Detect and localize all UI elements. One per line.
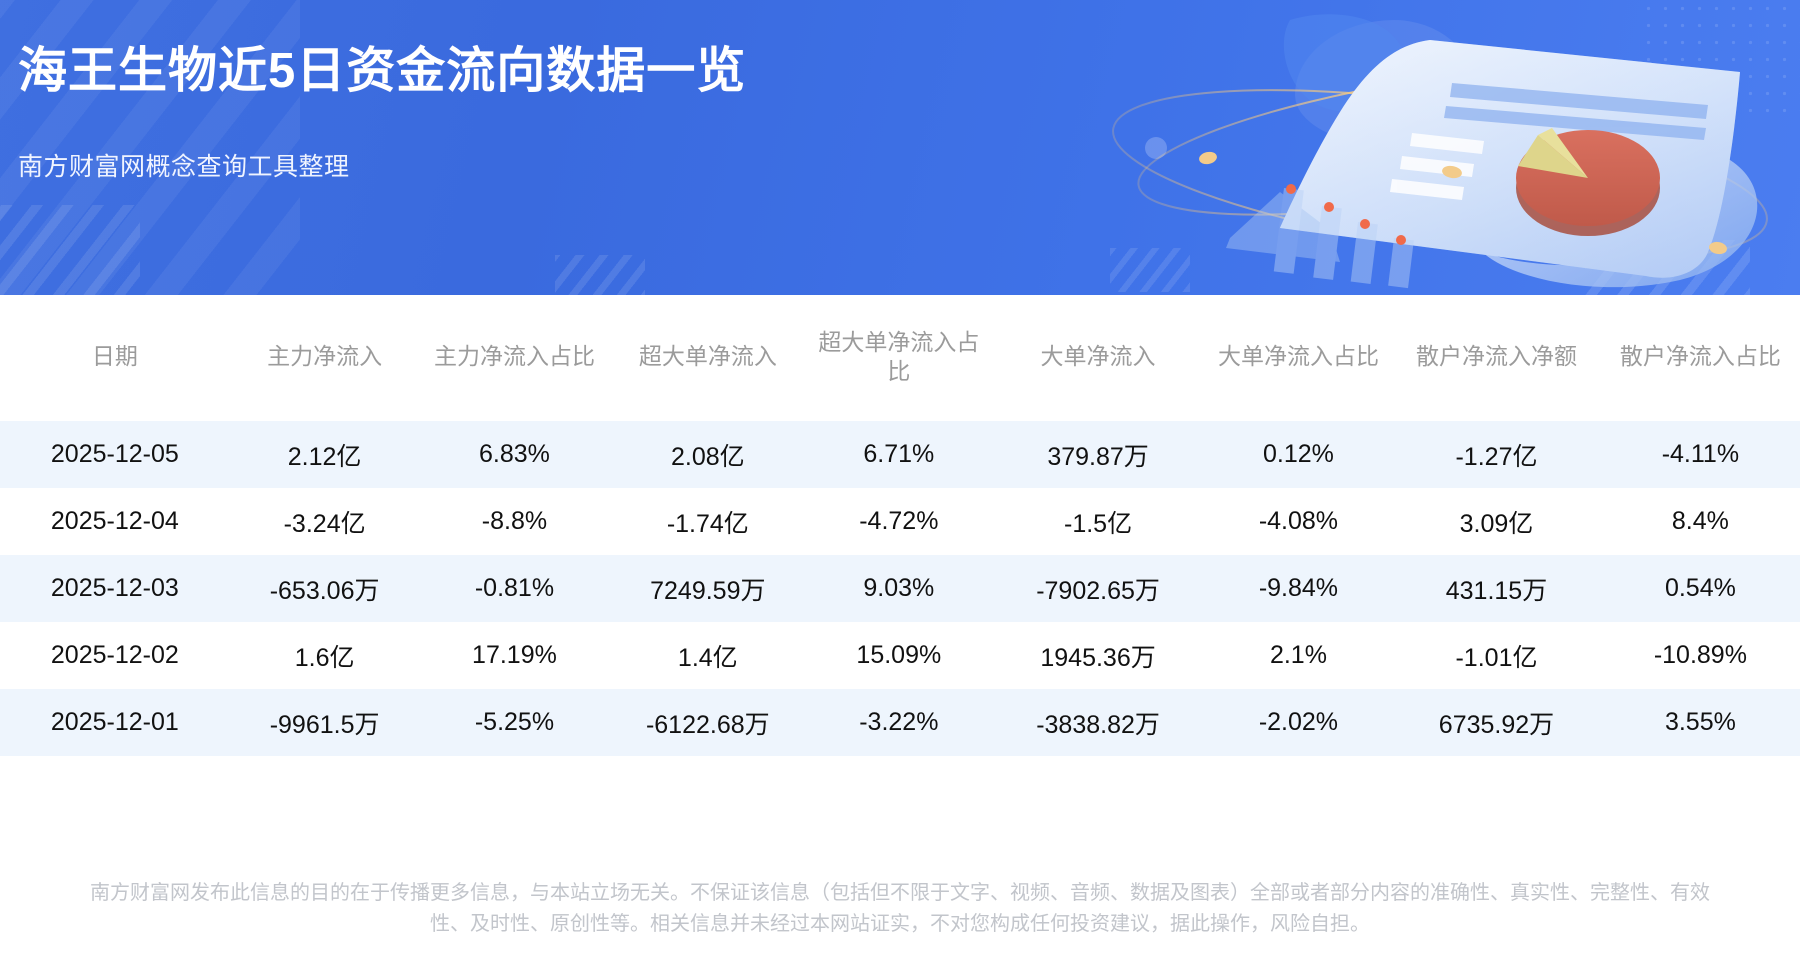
banner-text-block: 海王生物近5日资金流向数据一览 南方财富网概念查询工具整理 xyxy=(18,44,746,183)
cell-retail-net-inflow-amount: -1.27亿 xyxy=(1392,421,1601,488)
fund-flow-table: 日期 主力净流入 主力净流入占比 超大单净流入 超大单净流入占比 大单净流入 大… xyxy=(0,295,1800,756)
cell-retail-net-inflow-ratio: -4.11% xyxy=(1601,421,1800,488)
disclaimer-footer: 南方财富网发布此信息的目的在于传播更多信息，与本站立场无关。不保证该信息（包括但… xyxy=(0,860,1800,954)
cell-large-net-inflow-ratio: -9.84% xyxy=(1205,555,1393,622)
cell-large-net-inflow-ratio: -2.02% xyxy=(1205,689,1393,756)
cell-large-net-inflow: -1.5亿 xyxy=(991,488,1204,555)
cell-main-net-inflow: 2.12亿 xyxy=(230,421,420,488)
cell-main-net-inflow-ratio: 6.83% xyxy=(420,421,610,488)
cell-date: 2025-12-04 xyxy=(0,488,230,555)
table-body: 2025-12-05 2.12亿 6.83% 2.08亿 6.71% 379.8… xyxy=(0,421,1800,756)
cell-main-net-inflow: -9961.5万 xyxy=(230,689,420,756)
cell-main-net-inflow-ratio: -0.81% xyxy=(420,555,610,622)
cell-large-net-inflow-ratio: -4.08% xyxy=(1205,488,1393,555)
cell-retail-net-inflow-ratio: 8.4% xyxy=(1601,488,1800,555)
table-row: 2025-12-03 -653.06万 -0.81% 7249.59万 9.03… xyxy=(0,555,1800,622)
column-header-large-net-inflow: 大单净流入 xyxy=(991,295,1204,421)
cell-super-large-net-inflow: 2.08亿 xyxy=(609,421,806,488)
cell-super-large-net-inflow-ratio: 15.09% xyxy=(806,622,991,689)
cell-retail-net-inflow-ratio: -10.89% xyxy=(1601,622,1800,689)
table-row: 2025-12-04 -3.24亿 -8.8% -1.74亿 -4.72% -1… xyxy=(0,488,1800,555)
disclaimer-line-2: 性、及时性、原创性等。相关信息并未经过本网站证实，不对您构成任何投资建议，据此操… xyxy=(12,909,1788,940)
cell-super-large-net-inflow-ratio: -3.22% xyxy=(806,689,991,756)
cell-date: 2025-12-02 xyxy=(0,622,230,689)
table-row: 2025-12-02 1.6亿 17.19% 1.4亿 15.09% 1945.… xyxy=(0,622,1800,689)
column-header-date: 日期 xyxy=(0,295,230,421)
cell-super-large-net-inflow: 7249.59万 xyxy=(609,555,806,622)
page-title: 海王生物近5日资金流向数据一览 xyxy=(18,44,746,99)
cell-super-large-net-inflow-ratio: -4.72% xyxy=(806,488,991,555)
cell-date: 2025-12-01 xyxy=(0,689,230,756)
page-banner: 海王生物近5日资金流向数据一览 南方财富网概念查询工具整理 xyxy=(0,0,1800,295)
cell-super-large-net-inflow-ratio: 6.71% xyxy=(806,421,991,488)
cell-main-net-inflow: -3.24亿 xyxy=(230,488,420,555)
cell-main-net-inflow-ratio: -5.25% xyxy=(420,689,610,756)
table-header-row: 日期 主力净流入 主力净流入占比 超大单净流入 超大单净流入占比 大单净流入 大… xyxy=(0,295,1800,421)
table-header: 日期 主力净流入 主力净流入占比 超大单净流入 超大单净流入占比 大单净流入 大… xyxy=(0,295,1800,421)
cell-main-net-inflow-ratio: 17.19% xyxy=(420,622,610,689)
cell-super-large-net-inflow: -6122.68万 xyxy=(609,689,806,756)
cell-super-large-net-inflow: -1.74亿 xyxy=(609,488,806,555)
cell-date: 2025-12-05 xyxy=(0,421,230,488)
cell-super-large-net-inflow-ratio: 9.03% xyxy=(806,555,991,622)
cell-retail-net-inflow-amount: 3.09亿 xyxy=(1392,488,1601,555)
cell-retail-net-inflow-amount: 6735.92万 xyxy=(1392,689,1601,756)
column-header-super-large-net-inflow: 超大单净流入 xyxy=(609,295,806,421)
fund-flow-table-container: 南方财富网Southmoney.com 日期 主力净流入 主力净流入占比 超大单… xyxy=(0,295,1800,835)
banner-diagonal-stripes-middle-decor xyxy=(555,255,645,295)
cell-retail-net-inflow-ratio: 3.55% xyxy=(1601,689,1800,756)
column-header-retail-net-inflow-ratio: 散户净流入占比 xyxy=(1601,295,1800,421)
cell-date: 2025-12-03 xyxy=(0,555,230,622)
report-document-chart-illustration xyxy=(1040,0,1800,295)
cell-large-net-inflow: 1945.36万 xyxy=(991,622,1204,689)
table-row: 2025-12-01 -9961.5万 -5.25% -6122.68万 -3.… xyxy=(0,689,1800,756)
disclaimer-line-1: 南方财富网发布此信息的目的在于传播更多信息，与本站立场无关。不保证该信息（包括但… xyxy=(12,878,1788,909)
column-header-retail-net-inflow-amount: 散户净流入净额 xyxy=(1392,295,1601,421)
cell-main-net-inflow: -653.06万 xyxy=(230,555,420,622)
banner-diagonal-stripes-bottomleft-decor xyxy=(0,205,140,295)
cell-large-net-inflow: -7902.65万 xyxy=(991,555,1204,622)
page-subtitle: 南方财富网概念查询工具整理 xyxy=(18,147,746,183)
cell-retail-net-inflow-amount: -1.01亿 xyxy=(1392,622,1601,689)
cell-large-net-inflow: -3838.82万 xyxy=(991,689,1204,756)
column-header-super-large-net-inflow-ratio: 超大单净流入占比 xyxy=(806,295,991,421)
cell-main-net-inflow: 1.6亿 xyxy=(230,622,420,689)
cell-large-net-inflow: 379.87万 xyxy=(991,421,1204,488)
column-header-main-net-inflow-ratio: 主力净流入占比 xyxy=(420,295,610,421)
cell-retail-net-inflow-ratio: 0.54% xyxy=(1601,555,1800,622)
cell-large-net-inflow-ratio: 2.1% xyxy=(1205,622,1393,689)
cell-main-net-inflow-ratio: -8.8% xyxy=(420,488,610,555)
column-header-main-net-inflow: 主力净流入 xyxy=(230,295,420,421)
cell-retail-net-inflow-amount: 431.15万 xyxy=(1392,555,1601,622)
table-row: 2025-12-05 2.12亿 6.83% 2.08亿 6.71% 379.8… xyxy=(0,421,1800,488)
cell-super-large-net-inflow: 1.4亿 xyxy=(609,622,806,689)
column-header-large-net-inflow-ratio: 大单净流入占比 xyxy=(1205,295,1393,421)
cell-large-net-inflow-ratio: 0.12% xyxy=(1205,421,1393,488)
